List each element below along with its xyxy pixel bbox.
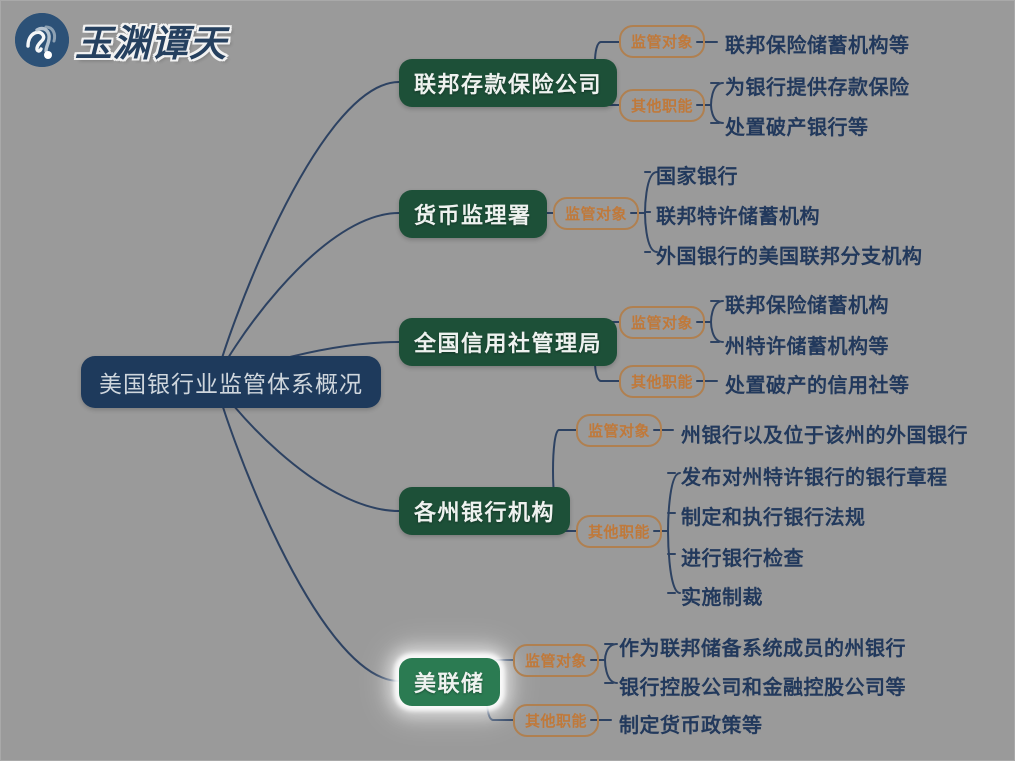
branch-node-4[interactable]: 各州银行机构	[399, 487, 570, 535]
leaf-node-3-2-1: 处置破产的信用社等	[725, 369, 910, 398]
leaf-node-1-1-1: 联邦保险储蓄机构等	[725, 29, 910, 58]
mindmap-canvas: 玉渊谭天 美国银行业监管体系概况联邦存款保险公司监管对象联邦保险储蓄机构等其他职…	[0, 0, 1015, 761]
leaf-node-5-2-1: 制定货币政策等	[619, 709, 763, 738]
category-node-2-1[interactable]: 监管对象	[553, 197, 639, 230]
leaf-node-5-1-2: 银行控股公司和金融控股公司等	[619, 671, 906, 700]
leaf-node-3-1-2: 州特许储蓄机构等	[725, 330, 889, 359]
leaf-node-4-1-1: 州银行以及位于该州的外国银行	[681, 419, 968, 448]
leaf-node-1-2-2: 处置破产银行等	[725, 111, 869, 140]
edge-category-fork	[605, 644, 617, 683]
category-node-4-1[interactable]: 监管对象	[576, 414, 662, 447]
category-node-1-2[interactable]: 其他职能	[619, 89, 705, 122]
leaf-node-5-1-1: 作为联邦储备系统成员的州银行	[619, 632, 906, 661]
edge-root-to-branch	[216, 381, 399, 681]
edge-category-fork	[668, 473, 680, 593]
leaf-node-4-2-3: 进行银行检查	[681, 542, 804, 571]
category-node-5-2[interactable]: 其他职能	[513, 704, 599, 737]
branch-node-5[interactable]: 美联储	[399, 658, 500, 706]
leaf-node-2-1-3: 外国银行的美国联邦分支机构	[656, 240, 923, 269]
category-node-1-1[interactable]: 监管对象	[619, 25, 705, 58]
category-node-5-1[interactable]: 监管对象	[513, 644, 599, 677]
leaf-node-3-1-1: 联邦保险储蓄机构	[725, 289, 889, 318]
wave-question-mark-logo-icon	[15, 13, 69, 67]
branch-node-3[interactable]: 全国信用社管理局	[399, 318, 617, 366]
edge-category-fork	[711, 301, 723, 342]
leaf-node-2-1-2: 联邦特许储蓄机构	[656, 200, 820, 229]
branch-node-1[interactable]: 联邦存款保险公司	[399, 59, 617, 107]
category-node-3-2[interactable]: 其他职能	[619, 365, 705, 398]
leaf-node-4-2-2: 制定和执行银行法规	[681, 501, 866, 530]
leaf-node-4-2-1: 发布对州特许银行的银行章程	[681, 461, 948, 490]
leaf-node-1-2-1: 为银行提供存款保险	[725, 71, 910, 100]
brand-text: 玉渊谭天	[75, 13, 227, 67]
category-node-3-1[interactable]: 监管对象	[619, 306, 705, 339]
brand-watermark: 玉渊谭天	[15, 13, 227, 67]
mindmap-root-node[interactable]: 美国银行业监管体系概况	[81, 356, 381, 408]
edge-category-fork	[711, 83, 723, 123]
leaf-node-2-1-1: 国家银行	[656, 160, 738, 189]
branch-node-2[interactable]: 货币监理署	[399, 190, 547, 238]
category-node-4-2[interactable]: 其他职能	[576, 515, 662, 548]
leaf-node-4-2-4: 实施制裁	[681, 581, 763, 610]
